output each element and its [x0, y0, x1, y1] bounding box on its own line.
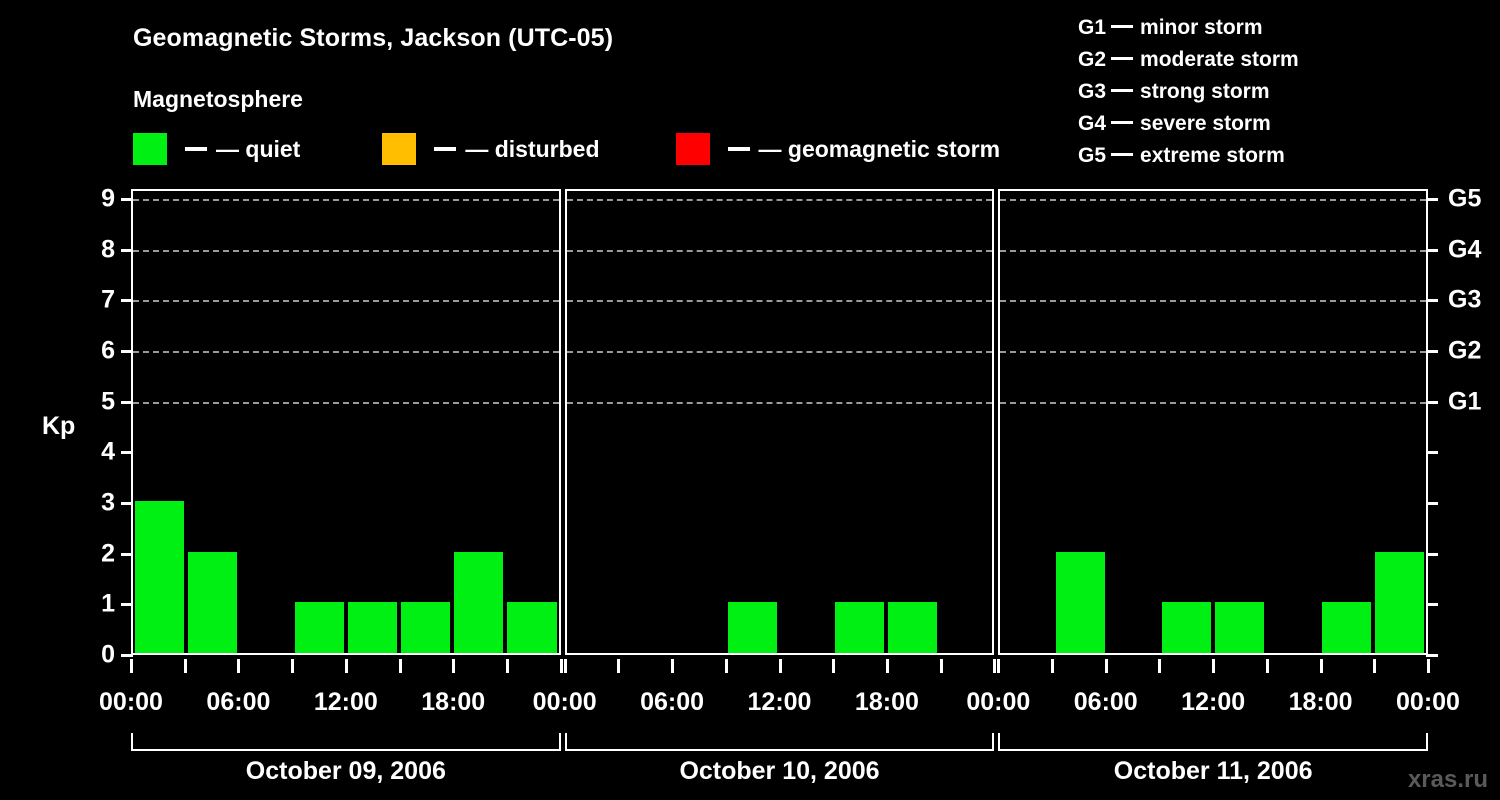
chart-root: Geomagnetic Storms, Jackson (UTC-05) Mag…	[0, 0, 1500, 800]
x-tick-mark	[886, 659, 889, 673]
x-tick-mark	[560, 659, 563, 673]
x-tick-mark	[237, 659, 240, 673]
section-label: Magnetosphere	[133, 86, 303, 113]
y-tick-label: 9	[85, 185, 115, 214]
x-tick-label: 00:00	[533, 688, 597, 717]
y-tick-label: 6	[85, 337, 115, 366]
day-panel	[998, 189, 1428, 655]
x-tick-mark	[832, 659, 835, 673]
x-tick-label: 00:00	[99, 688, 163, 717]
plot-area	[131, 189, 1428, 655]
x-tick-mark	[130, 659, 133, 673]
legend: — quiet — disturbed — geomagnetic storm	[133, 133, 1000, 165]
bar	[888, 602, 937, 653]
dash-icon	[1111, 89, 1133, 92]
x-tick-mark	[564, 659, 567, 673]
legend-dash-icon	[728, 147, 750, 151]
day-panel	[565, 189, 995, 655]
right-tick-label: G2	[1448, 337, 1481, 366]
g-scale-legend: G1minor stormG2moderate stormG3strong st…	[1078, 12, 1299, 172]
bar	[1162, 602, 1211, 653]
date-bracket	[998, 733, 1428, 751]
right-tick-label: G5	[1448, 185, 1481, 214]
x-tick-mark	[506, 659, 509, 673]
date-bracket	[131, 733, 561, 751]
x-tick-mark	[1212, 659, 1215, 673]
bar	[188, 552, 237, 653]
gridline	[567, 351, 993, 353]
legend-dash-icon	[185, 147, 207, 151]
bar	[1322, 602, 1371, 653]
gridline	[567, 402, 993, 404]
x-tick-mark	[671, 659, 674, 673]
y-tick-label: 0	[85, 641, 115, 670]
bar	[348, 602, 397, 653]
panel-inner	[567, 191, 993, 653]
gridline	[1000, 300, 1426, 302]
y-tick-label: 3	[85, 489, 115, 518]
bar	[295, 602, 344, 653]
x-tick-mark	[1266, 659, 1269, 673]
gridline	[567, 250, 993, 252]
x-tick-mark	[1051, 659, 1054, 673]
g-scale-line: G3strong storm	[1078, 76, 1299, 108]
x-tick-mark	[1427, 659, 1430, 673]
bar	[1215, 602, 1264, 653]
x-tick-mark	[291, 659, 294, 673]
x-tick-label: 18:00	[421, 688, 485, 717]
gridline	[1000, 402, 1426, 404]
x-tick-label: 18:00	[855, 688, 919, 717]
date-label: October 09, 2006	[246, 757, 446, 786]
x-tick-label: 00:00	[966, 688, 1030, 717]
legend-dash-icon	[434, 147, 456, 151]
watermark: xras.ru	[1408, 766, 1488, 794]
bar	[728, 602, 777, 653]
x-tick-mark	[399, 659, 402, 673]
gridline	[567, 300, 993, 302]
date-label: October 11, 2006	[1114, 757, 1313, 786]
x-tick-mark	[452, 659, 455, 673]
gridline	[133, 300, 559, 302]
legend-swatch-disturbed	[382, 133, 416, 165]
x-tick-label: 06:00	[206, 688, 270, 717]
legend-swatch-storm	[676, 133, 710, 165]
legend-item-disturbed: — disturbed	[382, 133, 599, 165]
day-panel	[131, 189, 561, 655]
panel-inner	[133, 191, 559, 653]
dash-icon	[1111, 25, 1133, 28]
bar	[135, 501, 184, 653]
legend-item-quiet: — quiet	[133, 133, 300, 165]
y-tick-label: 8	[85, 235, 115, 264]
x-tick-label: 00:00	[1396, 688, 1460, 717]
x-tick-label: 18:00	[1289, 688, 1353, 717]
g-scale-line: G5extreme storm	[1078, 140, 1299, 172]
x-tick-mark	[779, 659, 782, 673]
x-tick-label: 06:00	[640, 688, 704, 717]
x-tick-mark	[993, 659, 996, 673]
x-tick-mark	[997, 659, 1000, 673]
y-tick-label: 4	[85, 438, 115, 467]
gridline	[1000, 199, 1426, 201]
g-scale-line: G2moderate storm	[1078, 44, 1299, 76]
x-tick-mark	[1373, 659, 1376, 673]
legend-label-disturbed: — disturbed	[465, 136, 599, 163]
y-tick-label: 7	[85, 286, 115, 315]
g-scale-line: G1minor storm	[1078, 12, 1299, 44]
legend-swatch-quiet	[133, 133, 167, 165]
gridline	[133, 402, 559, 404]
x-tick-mark	[184, 659, 187, 673]
page-title: Geomagnetic Storms, Jackson (UTC-05)	[133, 24, 613, 53]
right-tick-label: G1	[1448, 387, 1481, 416]
dash-icon	[1111, 153, 1133, 156]
legend-label-quiet: — quiet	[216, 136, 300, 163]
gridline	[133, 250, 559, 252]
gridline	[133, 351, 559, 353]
y-tick-label: 1	[85, 590, 115, 619]
bar	[835, 602, 884, 653]
bar	[1056, 552, 1105, 653]
x-tick-label: 12:00	[314, 688, 378, 717]
right-tick-label: G4	[1448, 235, 1481, 264]
gridline	[567, 199, 993, 201]
bar	[454, 552, 503, 653]
x-tick-label: 12:00	[748, 688, 812, 717]
legend-label-storm: — geomagnetic storm	[759, 136, 1001, 163]
date-label: October 10, 2006	[679, 757, 879, 786]
x-tick-mark	[1320, 659, 1323, 673]
x-tick-mark	[940, 659, 943, 673]
legend-item-storm: — geomagnetic storm	[676, 133, 1001, 165]
x-tick-mark	[617, 659, 620, 673]
y-axis-title: Kp	[42, 412, 75, 441]
right-tick-label: G3	[1448, 286, 1481, 315]
g-scale-line: G4severe storm	[1078, 108, 1299, 140]
x-tick-mark	[1105, 659, 1108, 673]
dash-icon	[1111, 121, 1133, 124]
gridline	[1000, 351, 1426, 353]
x-tick-label: 06:00	[1074, 688, 1138, 717]
x-tick-mark	[1158, 659, 1161, 673]
panel-inner	[1000, 191, 1426, 653]
date-bracket	[565, 733, 995, 751]
bar	[401, 602, 450, 653]
y-tick-label: 5	[85, 387, 115, 416]
bar	[1375, 552, 1424, 653]
x-tick-mark	[725, 659, 728, 673]
gridline	[1000, 250, 1426, 252]
x-tick-label: 12:00	[1181, 688, 1245, 717]
x-tick-mark	[345, 659, 348, 673]
dash-icon	[1111, 57, 1133, 60]
y-tick-label: 2	[85, 539, 115, 568]
bar	[507, 602, 556, 653]
gridline	[133, 199, 559, 201]
